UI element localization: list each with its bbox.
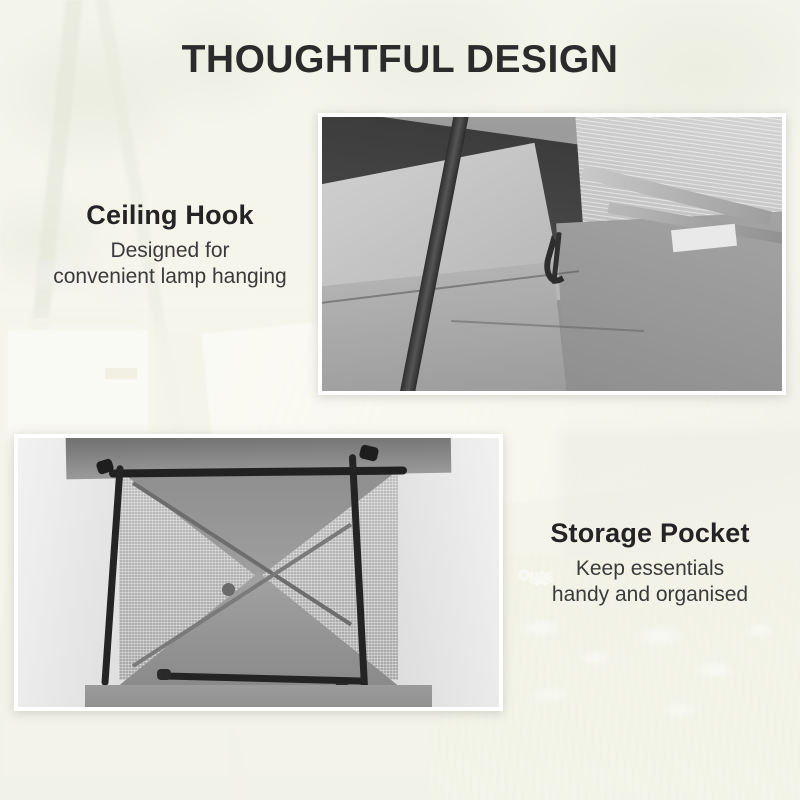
ceiling-hook-photo (318, 113, 786, 395)
storage-pocket-photo (14, 434, 503, 711)
storage-pocket-photo-content (18, 438, 499, 707)
storage-pocket-description-line1: Keep essentials (576, 557, 724, 580)
ceiling-hook-description: Designed for convenient lamp hanging (20, 238, 320, 289)
storage-pocket-caption: Storage Pocket Keep essentials handy and… (500, 518, 800, 607)
ceiling-hook-caption: Ceiling Hook Designed for convenient lam… (20, 200, 320, 289)
page-title: THOUGHTFUL DESIGN (0, 38, 800, 82)
ceiling-hook-description-line1: Designed for (110, 239, 229, 262)
ceiling-hook-heading: Ceiling Hook (20, 200, 320, 231)
ceiling-hook-photo-content (322, 117, 782, 391)
ceiling-hook-description-line2: convenient lamp hanging (53, 265, 287, 288)
storage-pocket-description: Keep essentials handy and organised (500, 556, 800, 607)
storage-pocket-description-line2: handy and organised (552, 583, 748, 606)
storage-pocket-heading: Storage Pocket (500, 518, 800, 549)
tent-floor (85, 685, 431, 707)
frame-clip-bottom-left (157, 669, 171, 680)
